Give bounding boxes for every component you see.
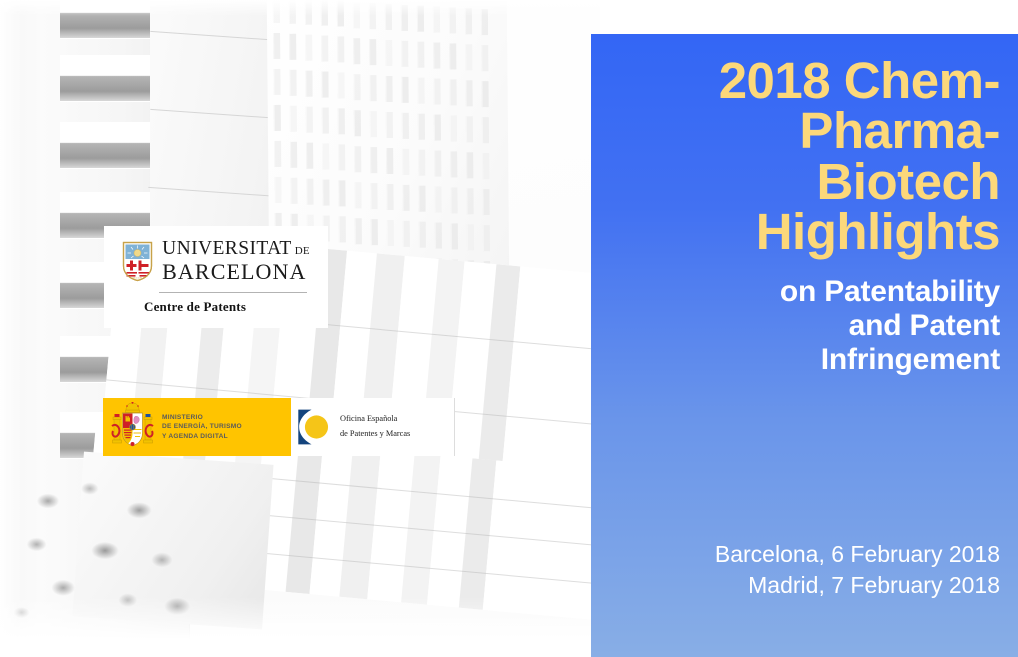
oepm-line-1: Oficina Española	[340, 412, 410, 427]
svg-text:MDCCCXLII: MDCCCXLII	[131, 276, 145, 279]
photo-window	[466, 152, 473, 178]
photo-window	[322, 108, 329, 134]
government-sign: MINISTERIO DE ENERGÍA, TURISMO Y AGENDA …	[103, 398, 455, 456]
photo-top-fade	[0, 0, 600, 16]
photo-window	[339, 217, 346, 243]
photo-window	[354, 182, 361, 208]
photo-window	[482, 153, 489, 179]
spain-coat-of-arms-icon	[109, 402, 156, 452]
photo-window	[273, 69, 280, 95]
ministry-text: MINISTERIO DE ENERGÍA, TURISMO Y AGENDA …	[162, 413, 242, 440]
photo-window	[385, 76, 392, 102]
ub-line-1: UNIVERSITAT DE	[162, 239, 310, 259]
photo-window	[433, 79, 440, 105]
photo-left-fade	[0, 0, 22, 657]
photo-window	[305, 71, 312, 97]
subtitle-line: on Patentability	[615, 275, 1000, 309]
photo-window	[403, 221, 410, 247]
photo-window	[418, 186, 425, 212]
background-photo	[0, 0, 600, 657]
ub-barcelona-text: BARCELONA	[162, 261, 310, 283]
ministry-line-1: MINISTERIO	[162, 413, 242, 422]
event-dates: Barcelona, 6 February 2018 Madrid, 7 Feb…	[615, 539, 1000, 601]
photo-window	[289, 34, 296, 60]
title-line: Highlights	[615, 207, 1000, 257]
photo-window	[322, 180, 329, 206]
photo-window	[450, 151, 457, 177]
photo-window	[434, 115, 441, 141]
title-line: Biotech	[615, 157, 1000, 207]
photo-window	[482, 81, 489, 107]
universitat-barcelona-sign: MDCCCXLII UNIVERSITAT DE BARCELONA Centr…	[104, 226, 328, 328]
photo-window	[482, 189, 489, 215]
photo-window	[273, 33, 280, 59]
photo-window	[402, 185, 409, 211]
photo-window	[401, 41, 408, 67]
photo-window	[417, 42, 424, 68]
date-line-madrid: Madrid, 7 February 2018	[615, 570, 1000, 601]
photo-window	[402, 149, 409, 175]
photo-bottom-fade	[0, 597, 600, 657]
photo-window	[385, 40, 392, 66]
title-line: Pharma-	[615, 106, 1000, 156]
oepm-logo-icon	[295, 407, 333, 447]
photo-window	[386, 112, 393, 138]
photo-window	[321, 36, 328, 62]
photo-window	[433, 43, 440, 69]
photo-window	[274, 105, 281, 131]
photo-window	[353, 74, 360, 100]
photo-window	[466, 188, 473, 214]
photo-window	[370, 111, 377, 137]
subtitle-line: Infringement	[615, 343, 1000, 377]
photo-window	[450, 187, 457, 213]
photo-window	[419, 222, 426, 248]
photo-window	[306, 179, 313, 205]
ministry-line-3: Y AGENDA DIGITAL	[162, 432, 242, 441]
photo-window	[289, 70, 296, 96]
photo-window	[290, 178, 297, 204]
subtitle-line: and Patent	[615, 309, 1000, 343]
photo-window	[338, 181, 345, 207]
poster-canvas: MDCCCXLII UNIVERSITAT DE BARCELONA Centr…	[0, 0, 1018, 657]
photo-window	[370, 183, 377, 209]
ministry-block: MINISTERIO DE ENERGÍA, TURISMO Y AGENDA …	[103, 398, 291, 456]
photo-window	[306, 107, 313, 133]
photo-window	[451, 223, 458, 249]
photo-window	[338, 109, 345, 135]
oepm-line-2: de Patentes y Marcas	[340, 427, 410, 442]
photo-window	[449, 79, 456, 105]
photo-window	[355, 218, 362, 244]
photo-window	[369, 75, 376, 101]
photo-window	[467, 224, 474, 250]
photo-window	[354, 110, 361, 136]
photo-window	[450, 115, 457, 141]
photo-window	[482, 117, 489, 143]
photo-window	[466, 116, 473, 142]
photo-window	[306, 143, 313, 169]
date-line-barcelona: Barcelona, 6 February 2018	[615, 539, 1000, 570]
photo-window	[321, 72, 328, 98]
photo-window	[449, 43, 456, 69]
photo-window	[386, 148, 393, 174]
photo-window	[354, 146, 361, 172]
ub-universitat-text: UNIVERSITAT	[162, 239, 292, 259]
photo-window	[434, 151, 441, 177]
photo-window	[466, 80, 473, 106]
photo-window	[305, 35, 312, 61]
blue-title-panel: 2018 Chem- Pharma- Biotech Highlights on…	[591, 34, 1018, 657]
photo-window	[370, 147, 377, 173]
photo-window	[337, 37, 344, 63]
photo-window	[418, 150, 425, 176]
photo-window	[387, 220, 394, 246]
photo-window	[481, 45, 488, 71]
photo-window	[465, 44, 472, 70]
photo-window	[418, 114, 425, 140]
photo-window	[402, 113, 409, 139]
event-title: 2018 Chem- Pharma- Biotech Highlights	[615, 56, 1000, 258]
ub-shield-icon: MDCCCXLII	[122, 241, 153, 282]
photo-window	[274, 177, 281, 203]
ub-divider	[159, 292, 307, 293]
photo-window	[483, 225, 490, 251]
oepm-block: Oficina Española de Patentes y Marcas	[291, 398, 455, 456]
photo-window	[386, 184, 393, 210]
oepm-text: Oficina Española de Patentes y Marcas	[340, 412, 410, 441]
photo-window	[338, 145, 345, 171]
event-subtitle: on Patentability and Patent Infringement	[615, 275, 1000, 378]
ub-wordmark: UNIVERSITAT DE BARCELONA	[162, 239, 310, 283]
photo-window	[369, 39, 376, 65]
photo-window	[290, 142, 297, 168]
photo-window	[337, 73, 344, 99]
photo-window	[434, 187, 441, 213]
photo-window	[353, 38, 360, 64]
photo-window	[371, 219, 378, 245]
photo-window	[401, 77, 408, 103]
ministry-line-2: DE ENERGÍA, TURISMO	[162, 422, 242, 431]
photo-window	[435, 223, 442, 249]
photo-window	[274, 141, 281, 167]
photo-window	[417, 78, 424, 104]
photo-window	[290, 106, 297, 132]
ub-logo-row: MDCCCXLII UNIVERSITAT DE BARCELONA	[122, 239, 310, 283]
photo-window	[322, 144, 329, 170]
ub-centre-de-patents-text: Centre de Patents	[144, 299, 246, 315]
title-line: 2018 Chem-	[615, 56, 1000, 106]
ub-de-text: DE	[295, 246, 310, 257]
